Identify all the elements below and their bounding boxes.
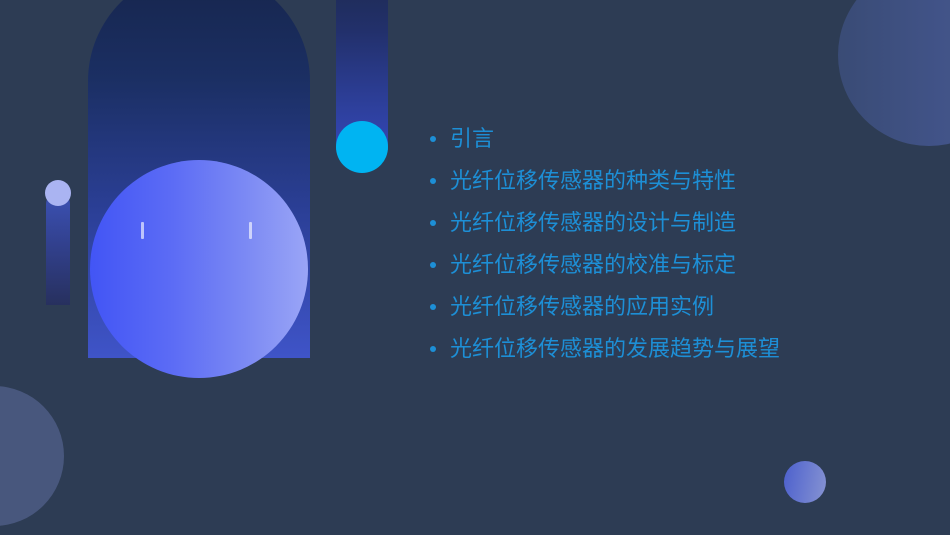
bullet-dot-icon [430, 262, 436, 268]
toc-item[interactable]: 光纤位移传感器的应用实例 [424, 286, 894, 328]
bullet-dot-icon [430, 136, 436, 142]
toc-item-label: 光纤位移传感器的设计与制造 [450, 210, 736, 235]
toc-item-label: 光纤位移传感器的种类与特性 [450, 168, 736, 193]
toc-item-label: 光纤位移传感器的应用实例 [450, 294, 714, 319]
decorative-bar-small [46, 192, 70, 305]
decorative-circle-small-light [45, 180, 71, 206]
bullet-dot-icon [430, 178, 436, 184]
bullet-dot-icon [430, 220, 436, 226]
table-of-contents-list: 引言 光纤位移传感器的种类与特性 光纤位移传感器的设计与制造 光纤位移传感器的校… [424, 118, 894, 370]
decorative-circle-cyan [336, 121, 388, 173]
sphere-tick-mark-right [249, 222, 252, 239]
decorative-circle-bottom-left [0, 386, 64, 526]
bullet-dot-icon [430, 346, 436, 352]
decorative-circle-bottom-right [784, 461, 826, 503]
toc-item-label: 引言 [450, 126, 494, 151]
bullet-dot-icon [430, 304, 436, 310]
toc-item[interactable]: 光纤位移传感器的设计与制造 [424, 202, 894, 244]
presentation-slide: 引言 光纤位移传感器的种类与特性 光纤位移传感器的设计与制造 光纤位移传感器的校… [0, 0, 950, 535]
toc-item[interactable]: 光纤位移传感器的校准与标定 [424, 244, 894, 286]
toc-item[interactable]: 光纤位移传感器的发展趋势与展望 [424, 328, 894, 370]
toc-item[interactable]: 引言 [424, 118, 894, 160]
toc-item-label: 光纤位移传感器的发展趋势与展望 [450, 336, 780, 361]
toc-item[interactable]: 光纤位移传感器的种类与特性 [424, 160, 894, 202]
sphere-tick-mark-left [141, 222, 144, 239]
decorative-sphere-large [90, 160, 308, 378]
toc-item-label: 光纤位移传感器的校准与标定 [450, 252, 736, 277]
